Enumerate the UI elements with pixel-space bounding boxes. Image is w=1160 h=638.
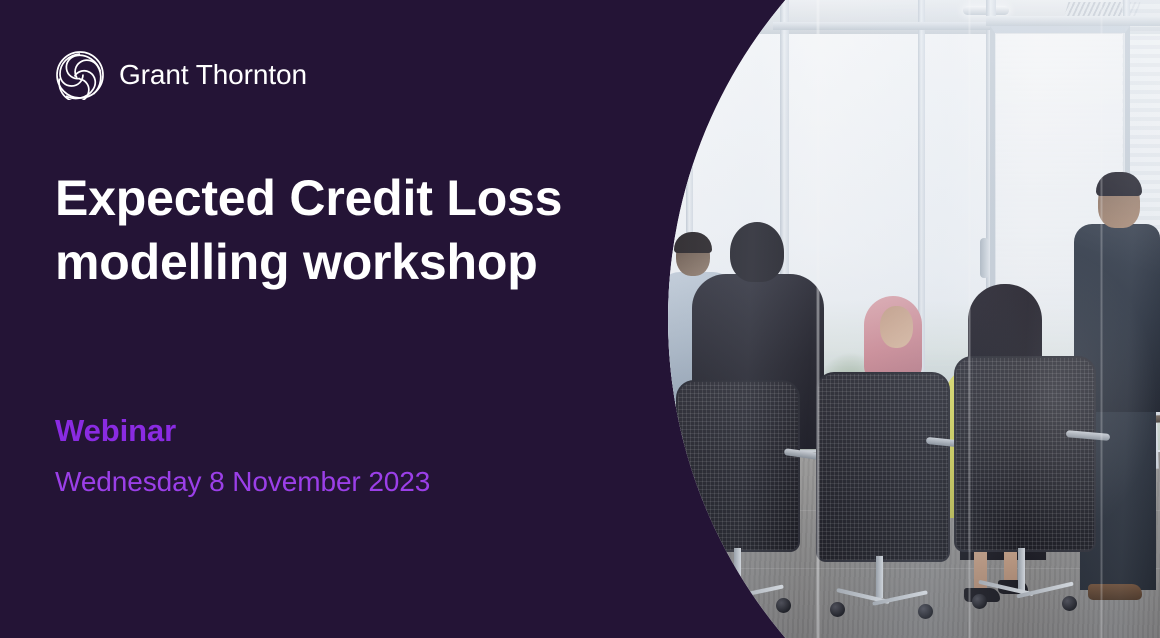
hero-image-circle-mask	[668, 0, 1160, 638]
brand-logo: Grant Thornton	[55, 50, 307, 100]
presentation-slide: Grant Thornton Expected Credit Loss mode…	[0, 0, 1160, 638]
brand-name: Grant Thornton	[119, 61, 307, 89]
page-title: Expected Credit Loss modelling workshop	[55, 166, 655, 294]
office-chair	[816, 372, 950, 562]
page-title-line-1: Expected Credit Loss	[55, 170, 562, 226]
grant-thornton-swirl-icon	[55, 50, 105, 100]
chair-post	[1018, 548, 1025, 592]
page-title-line-2: modelling workshop	[55, 230, 655, 294]
chair-post	[876, 556, 883, 598]
door-handle	[980, 238, 989, 278]
slide-content: Grant Thornton Expected Credit Loss mode…	[0, 0, 700, 638]
window-transom	[986, 16, 1160, 26]
event-date: Wednesday 8 November 2023	[55, 468, 430, 496]
hero-image	[668, 0, 1160, 638]
window-transom	[773, 22, 993, 30]
office-chair	[954, 356, 1096, 552]
event-type-label: Webinar	[55, 415, 176, 446]
chair-post	[734, 548, 741, 592]
